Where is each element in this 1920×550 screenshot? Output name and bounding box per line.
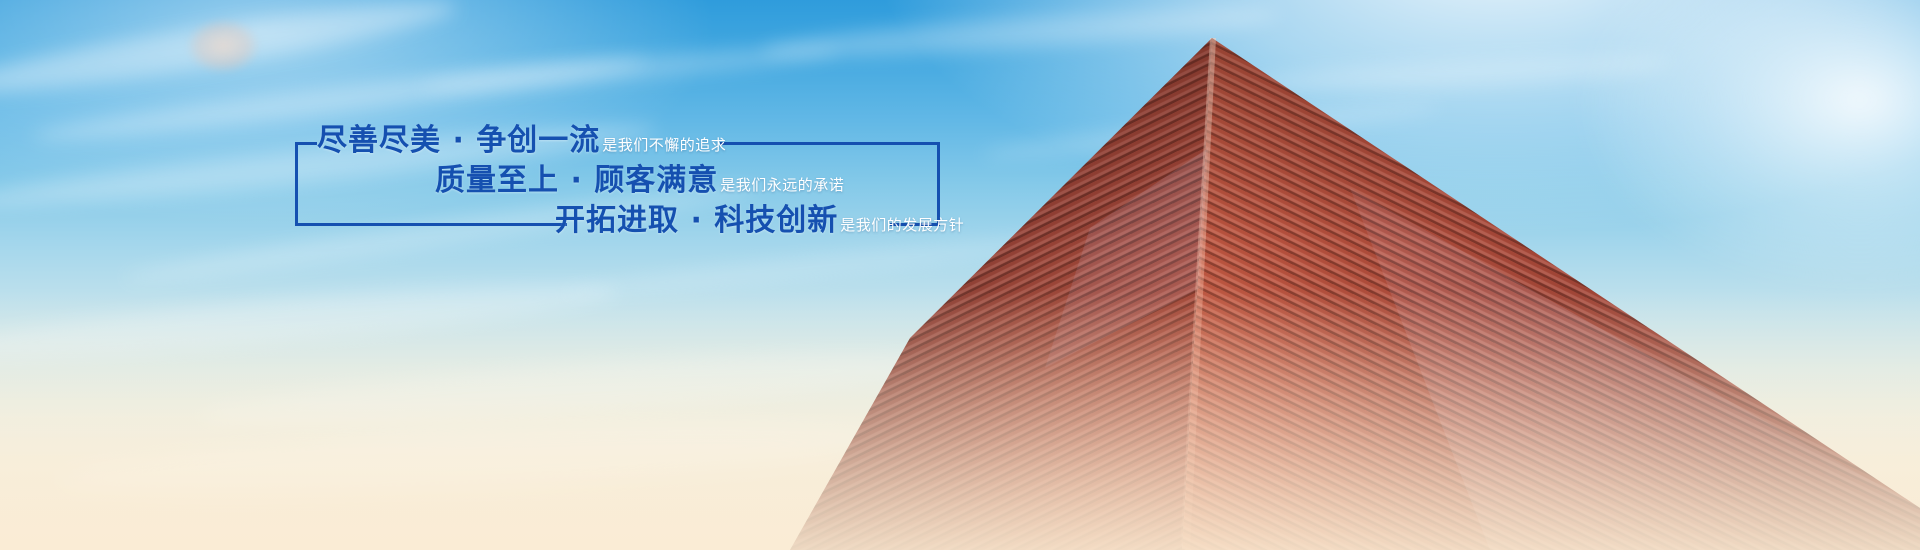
frame-top-right-segment <box>720 142 940 145</box>
slogan-line-3-main: 开拓进取 · 科技创新 <box>555 206 838 236</box>
slogan-block: 尽善尽美 · 争创一流 是我们不懈的追求 质量至上 · 顾客满意 是我们永远的承… <box>295 142 940 242</box>
frame-bottom-left-segment <box>295 223 567 226</box>
lens-flare <box>186 18 260 74</box>
hero-banner: 尽善尽美 · 争创一流 是我们不懈的追求 质量至上 · 顾客满意 是我们永远的承… <box>0 0 1920 550</box>
slogan-line-2-main: 质量至上 · 顾客满意 <box>435 166 718 196</box>
building-bottom-glow <box>790 38 1920 550</box>
slogan-line-3: 开拓进取 · 科技创新 是我们的发展方针 <box>555 206 964 236</box>
frame-left-edge <box>295 142 298 226</box>
slogan-line-2-sub: 是我们永远的承诺 <box>720 178 844 193</box>
slogan-line-2: 质量至上 · 顾客满意 是我们永远的承诺 <box>435 166 844 196</box>
frame-top-left-segment <box>295 142 317 145</box>
slogan-line-1-sub: 是我们不懈的追求 <box>602 138 726 153</box>
slogan-line-1-main: 尽善尽美 · 争创一流 <box>317 126 600 156</box>
slogan-line-1: 尽善尽美 · 争创一流 是我们不懈的追求 <box>317 126 726 156</box>
building-geometry <box>790 38 1920 550</box>
building-photo <box>790 38 1920 550</box>
slogan-line-3-sub: 是我们的发展方针 <box>840 218 964 233</box>
